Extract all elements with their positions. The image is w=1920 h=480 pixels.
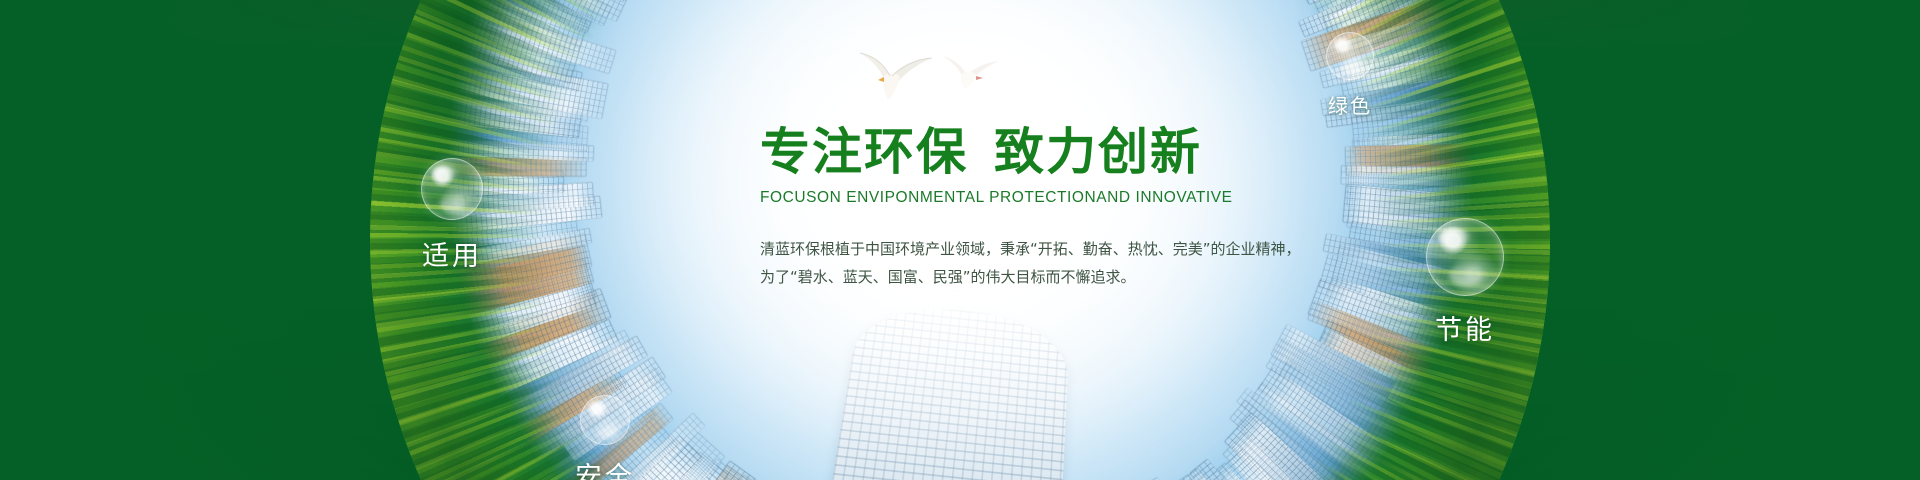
- bubble-icon: [421, 158, 483, 220]
- bubble-icon: [1326, 32, 1374, 80]
- description-paragraph: 清蓝环保根植于中国环境产业领域，秉承“开拓、勤奋、热忱、完美”的企业精神， 为了…: [760, 235, 1400, 291]
- copy-block: 专注环保致力创新 FOCUSON ENVIPONMENTAL PROTECTIO…: [760, 126, 1400, 291]
- page-title: 专注环保致力创新: [760, 126, 1400, 179]
- headline-part-2: 致力创新: [994, 123, 1202, 181]
- bubble-icon: [1426, 218, 1504, 296]
- subtitle-english: FOCUSON ENVIPONMENTAL PROTECTIONAND INNO…: [760, 189, 1400, 207]
- headline-part-1: 专注环保: [760, 123, 968, 181]
- feature-label-safety: 安全: [545, 455, 665, 480]
- feature-safety[interactable]: 安全: [545, 395, 665, 480]
- feature-green[interactable]: 绿色: [1295, 32, 1405, 119]
- bubble-icon: [580, 395, 630, 445]
- feature-applicable[interactable]: 适用: [392, 158, 512, 273]
- description-line-1: 清蓝环保根植于中国环境产业领域，秉承“开拓、勤奋、热忱、完美”的企业精神，: [760, 235, 1400, 263]
- hero-banner: 适用 安全 绿色 节能 专注环保致力创新 FOCUSON ENVIPONMENT…: [0, 0, 1920, 480]
- description-line-2: 为了“碧水、蓝天、国富、民强”的伟大目标而不懈追求。: [760, 263, 1400, 291]
- feature-label-green: 绿色: [1295, 90, 1405, 119]
- feature-label-energy-saving: 节能: [1400, 308, 1530, 347]
- feature-energy-saving[interactable]: 节能: [1400, 218, 1530, 347]
- feature-label-applicable: 适用: [392, 234, 512, 273]
